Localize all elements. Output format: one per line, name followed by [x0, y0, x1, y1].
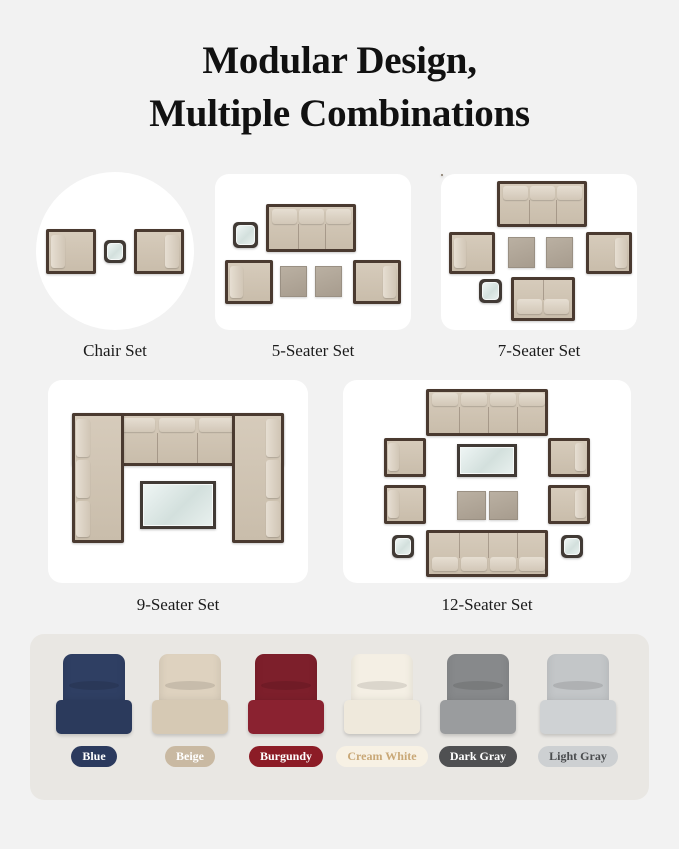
- color-label-burgundy: Burgundy: [249, 746, 323, 767]
- set-card-12-seater-set[interactable]: [343, 380, 631, 583]
- color-swatch-blue[interactable]: Blue: [46, 654, 142, 767]
- color-label-light-gray: Light Gray: [538, 746, 618, 767]
- color-swatch-burgundy[interactable]: Burgundy: [238, 654, 334, 767]
- sectional-left-run: [72, 413, 124, 543]
- four-seat-sofa: [426, 389, 548, 436]
- coffee-table: [457, 444, 517, 477]
- three-seat-sofa: [266, 204, 356, 252]
- ottoman: [457, 491, 486, 520]
- armchair: [134, 229, 184, 274]
- set-label-7-seater-set: 7-Seater Set: [441, 341, 637, 361]
- side-table: [104, 240, 126, 263]
- color-label-blue: Blue: [71, 746, 116, 767]
- set-card-7-seater-set[interactable]: [441, 174, 637, 330]
- cushion-preview: [536, 654, 620, 740]
- set-label-5-seater-set: 5-Seater Set: [215, 341, 411, 361]
- side-table: [479, 279, 502, 303]
- coffee-table: [140, 481, 216, 529]
- set-card-9-seater-set[interactable]: [48, 380, 308, 583]
- armchair: [449, 232, 495, 274]
- cushion-preview: [52, 654, 136, 740]
- set-card-5-seater-set[interactable]: [215, 174, 411, 330]
- color-swatch-cream-white[interactable]: Cream White: [334, 654, 430, 767]
- set-label-chair-set: Chair Set: [36, 341, 194, 361]
- infographic-page: Modular Design, Multiple Combinations Ch…: [0, 0, 679, 849]
- set-card-chair-set[interactable]: [36, 172, 194, 330]
- armchair: [353, 260, 401, 304]
- ottoman: [489, 491, 518, 520]
- loveseat: [511, 277, 575, 321]
- ottoman: [546, 237, 573, 268]
- color-label-beige: Beige: [165, 746, 215, 767]
- three-seat-sofa: [497, 181, 587, 227]
- color-options-panel: Blue Beige Burgundy Cream: [30, 634, 649, 800]
- armchair: [384, 485, 426, 524]
- title-line-2: Multiple Combinations: [0, 87, 679, 140]
- ottoman: [508, 237, 535, 268]
- cushion-preview: [148, 654, 232, 740]
- sectional-right-run: [232, 413, 284, 543]
- armchair: [548, 438, 590, 477]
- four-seat-sofa: [426, 530, 548, 577]
- ottoman: [315, 266, 342, 297]
- set-label-12-seater-set: 12-Seater Set: [343, 595, 631, 615]
- color-swatch-dark-gray[interactable]: Dark Gray: [430, 654, 526, 767]
- set-label-9-seater-set: 9-Seater Set: [48, 595, 308, 615]
- cushion-preview: [340, 654, 424, 740]
- ottoman: [441, 174, 443, 176]
- cushion-preview: [244, 654, 328, 740]
- armchair: [548, 485, 590, 524]
- armchair: [225, 260, 273, 304]
- armchair: [384, 438, 426, 477]
- side-table: [561, 535, 583, 558]
- armchair: [586, 232, 632, 274]
- color-swatch-light-gray[interactable]: Light Gray: [530, 654, 626, 767]
- ottoman: [280, 266, 307, 297]
- color-label-dark-gray: Dark Gray: [439, 746, 517, 767]
- armchair: [46, 229, 96, 274]
- color-swatch-beige[interactable]: Beige: [142, 654, 238, 767]
- side-table: [233, 222, 258, 248]
- side-table: [392, 535, 414, 558]
- color-label-cream-white: Cream White: [336, 746, 427, 767]
- cushion-preview: [436, 654, 520, 740]
- page-title: Modular Design, Multiple Combinations: [0, 34, 679, 140]
- title-line-1: Modular Design,: [202, 39, 476, 82]
